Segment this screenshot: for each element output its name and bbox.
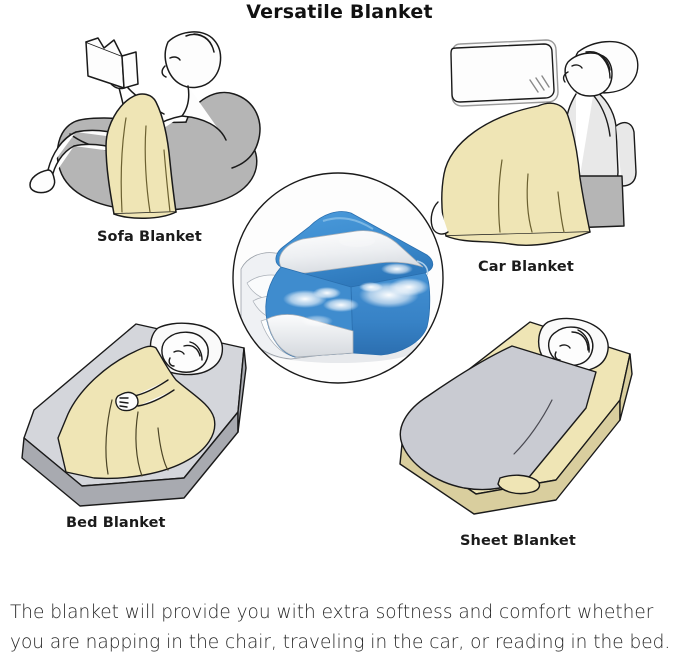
scene-label-bed: Bed Blanket bbox=[66, 515, 166, 531]
scene-label-car: Car Blanket bbox=[478, 259, 574, 275]
page-title: Versatile Blanket bbox=[0, 1, 679, 23]
infographic-page: Versatile Blanket bbox=[0, 0, 679, 658]
scene-bed-illustration bbox=[8, 318, 264, 514]
product-photo-circle bbox=[231, 171, 445, 385]
scene-label-sheet: Sheet Blanket bbox=[460, 533, 576, 549]
scene-car-illustration bbox=[418, 26, 679, 261]
scene-label-sofa: Sofa Blanket bbox=[97, 229, 202, 245]
product-caption: The blanket will provide you with extra … bbox=[10, 598, 672, 658]
